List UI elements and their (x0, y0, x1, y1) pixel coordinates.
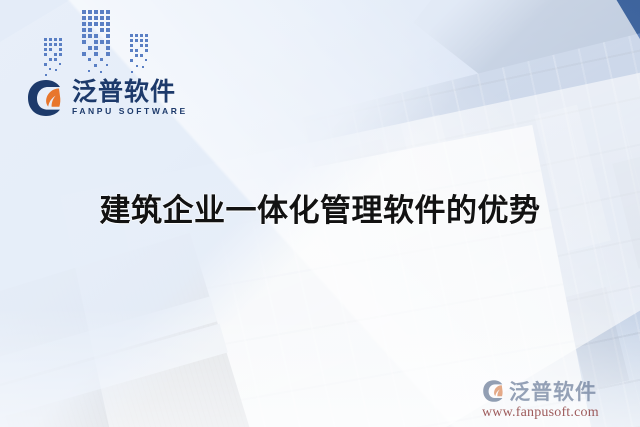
logo-text-block: 泛普软件 FANPU SOFTWARE (72, 78, 188, 117)
logo-name-en: FANPU SOFTWARE (72, 106, 188, 117)
fanpu-shield-svg (26, 78, 66, 118)
watermark-url: www.fanpusoft.com (482, 405, 632, 421)
pixel-skyline-icon (38, 8, 168, 84)
watermark: 泛普软件 www.fanpusoft.com (482, 376, 632, 421)
page-title: 建筑企业一体化管理软件的优势 (0, 185, 640, 230)
brand-logo: 泛普软件 FANPU SOFTWARE (26, 78, 188, 118)
logo-name-cn: 泛普软件 (72, 79, 188, 105)
watermark-shield-svg (482, 379, 506, 403)
banner: 泛普软件 FANPU SOFTWARE 建筑企业一体化管理软件的优势 泛普软件 … (0, 0, 640, 427)
watermark-logo-row: 泛普软件 (482, 376, 632, 406)
fanpu-shield-icon (482, 379, 506, 403)
watermark-name-cn: 泛普软件 (509, 376, 597, 406)
pixel-skyline-svg (38, 8, 168, 84)
fanpu-shield-icon (26, 78, 66, 118)
